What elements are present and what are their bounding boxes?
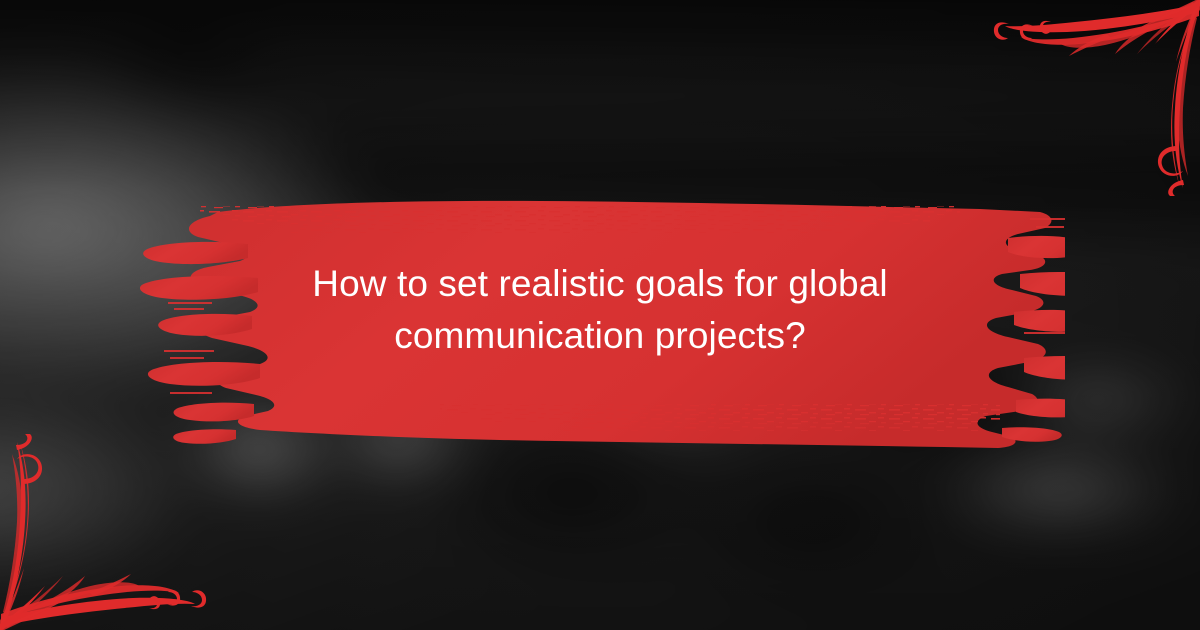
share-card: How to set realistic goals for global co…: [0, 0, 1200, 630]
page-title: How to set realistic goals for global co…: [200, 258, 1000, 362]
brush-top-texture: [200, 206, 960, 233]
